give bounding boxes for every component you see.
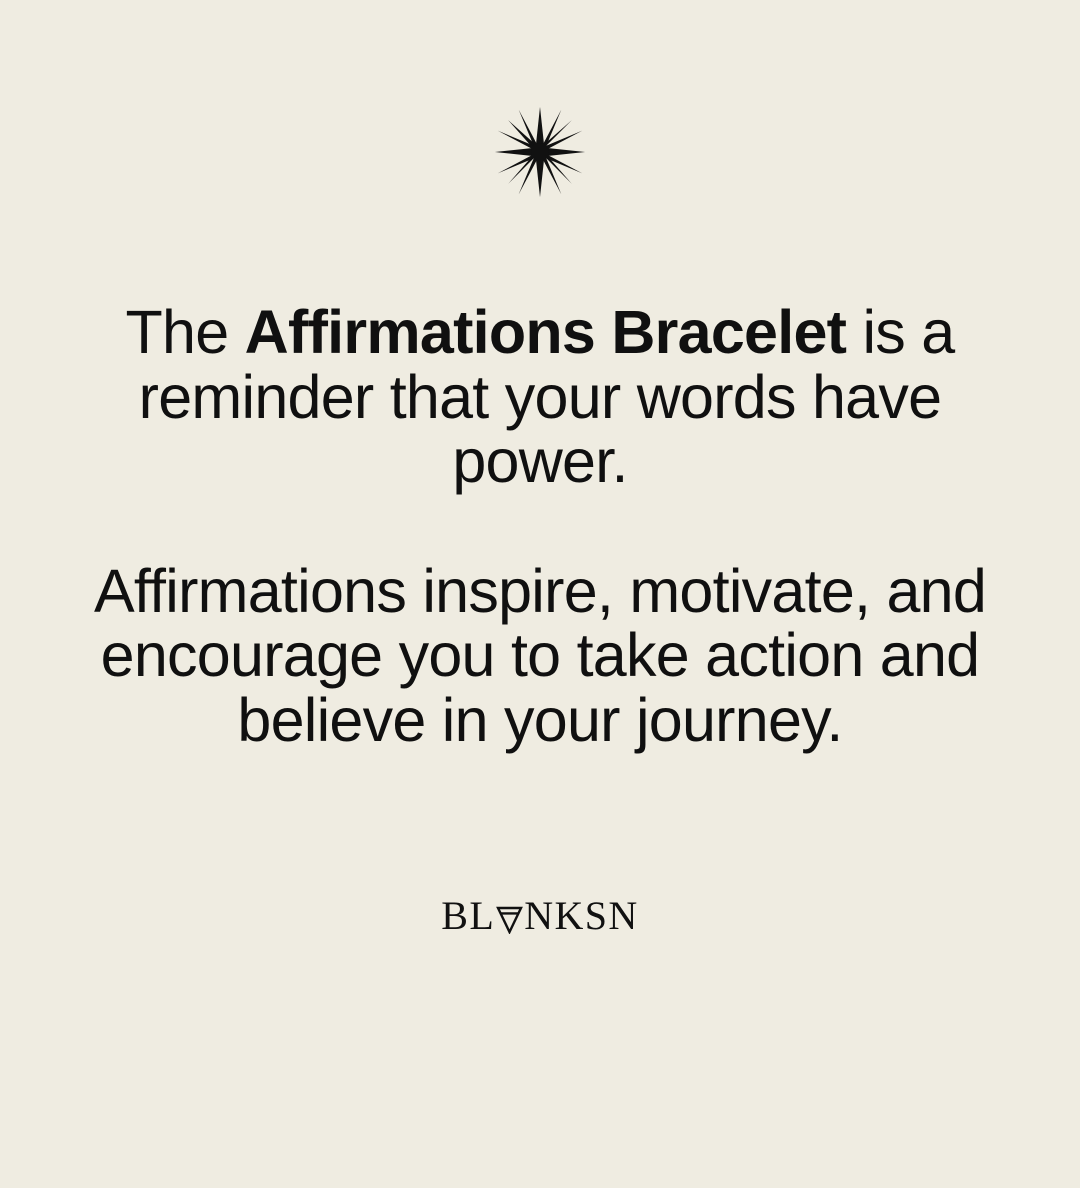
brand-wordmark: BL NKSN — [0, 896, 1080, 936]
paragraph-secondary: Affirmations inspire, motivate, and enco… — [60, 559, 1020, 753]
inverted-triangle-with-bar-icon — [496, 904, 523, 934]
brand-suffix: NKSN — [524, 896, 639, 936]
twelve-point-starburst-icon — [494, 106, 586, 198]
paragraph-primary-lead: The — [126, 298, 245, 366]
paragraph-primary: The Affirmations Bracelet is a reminder … — [60, 300, 1020, 494]
promo-card: The Affirmations Bracelet is a reminder … — [0, 0, 1080, 1188]
brand-prefix: BL — [441, 896, 495, 936]
ornament-container — [0, 104, 1080, 200]
product-name-emphasis: Affirmations Bracelet — [245, 298, 847, 366]
body-copy: The Affirmations Bracelet is a reminder … — [60, 300, 1020, 753]
